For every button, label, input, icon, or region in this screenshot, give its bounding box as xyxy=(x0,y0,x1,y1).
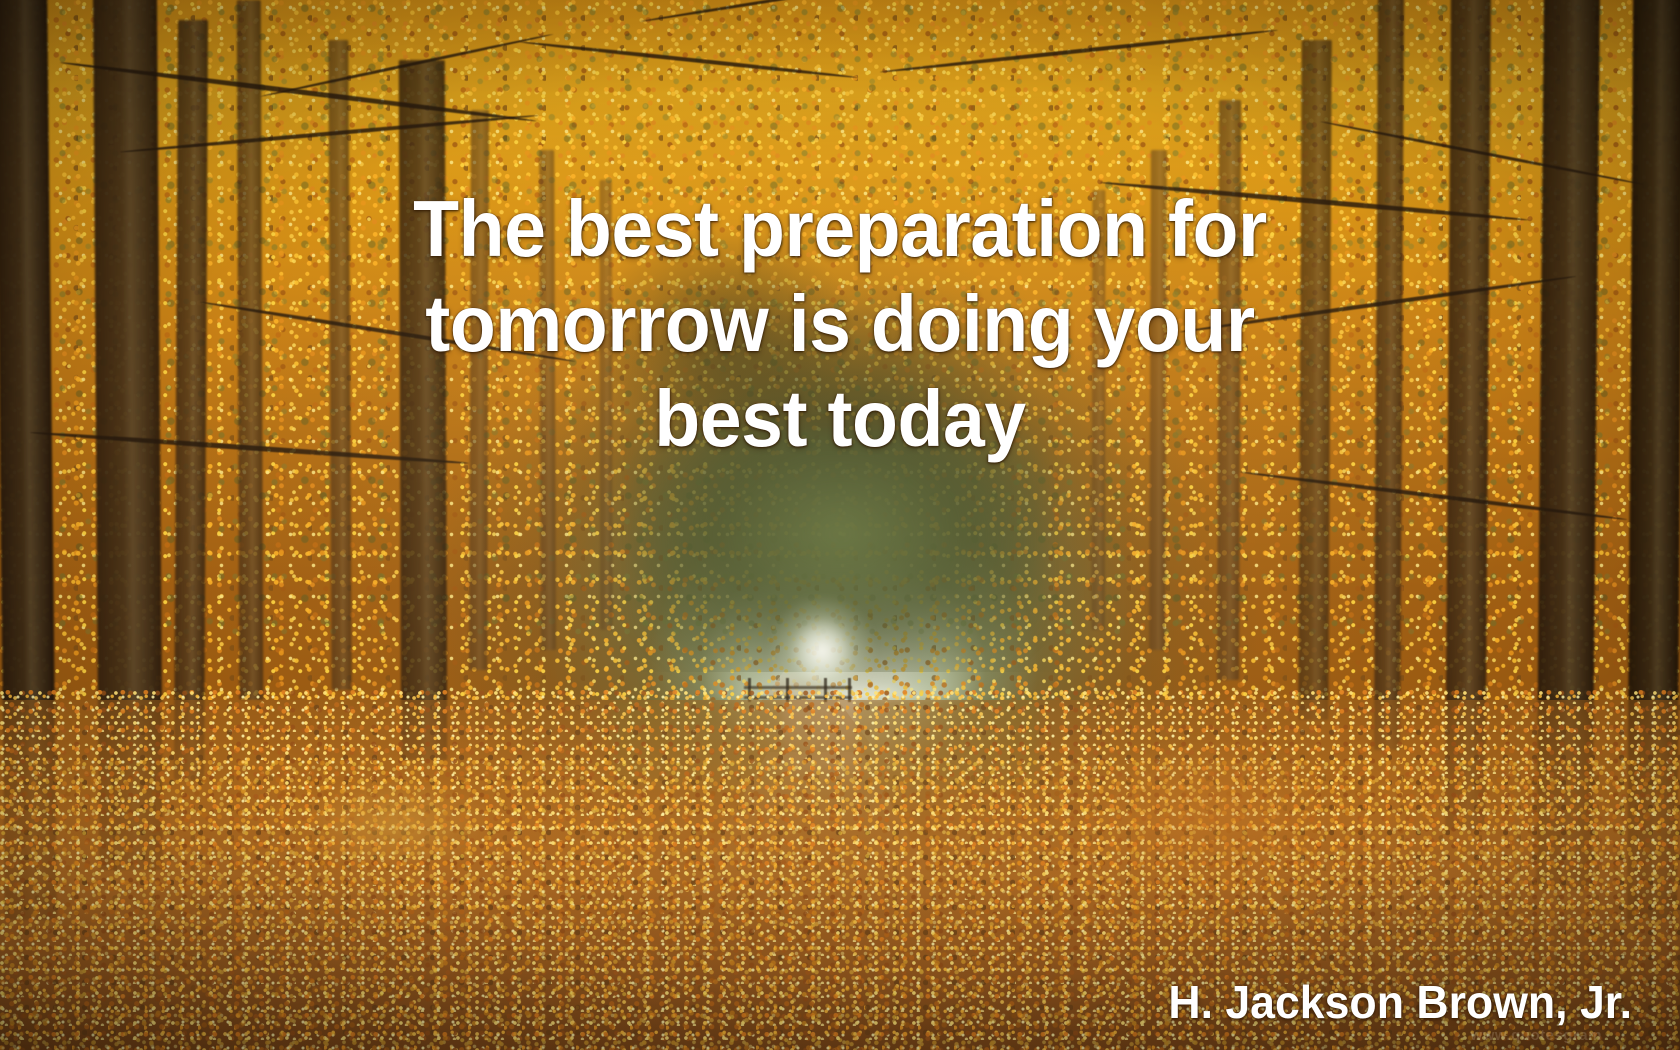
quote-attribution: H. Jackson Brown, Jr. xyxy=(1168,976,1632,1028)
quote-line-1: The best preparation for xyxy=(50,181,1629,276)
photo-vignette xyxy=(0,0,1680,1050)
autumn-forest-photograph xyxy=(0,0,1680,1050)
quote-line-3: best today xyxy=(50,371,1629,466)
quote-image-canvas: The best preparation for tomorrow is doi… xyxy=(0,0,1680,1050)
quote-line-2: tomorrow is doing your xyxy=(50,276,1629,371)
quote-text-block: The best preparation for tomorrow is doi… xyxy=(0,181,1680,466)
source-watermark: www.quotesgram xyxy=(1471,1027,1602,1044)
